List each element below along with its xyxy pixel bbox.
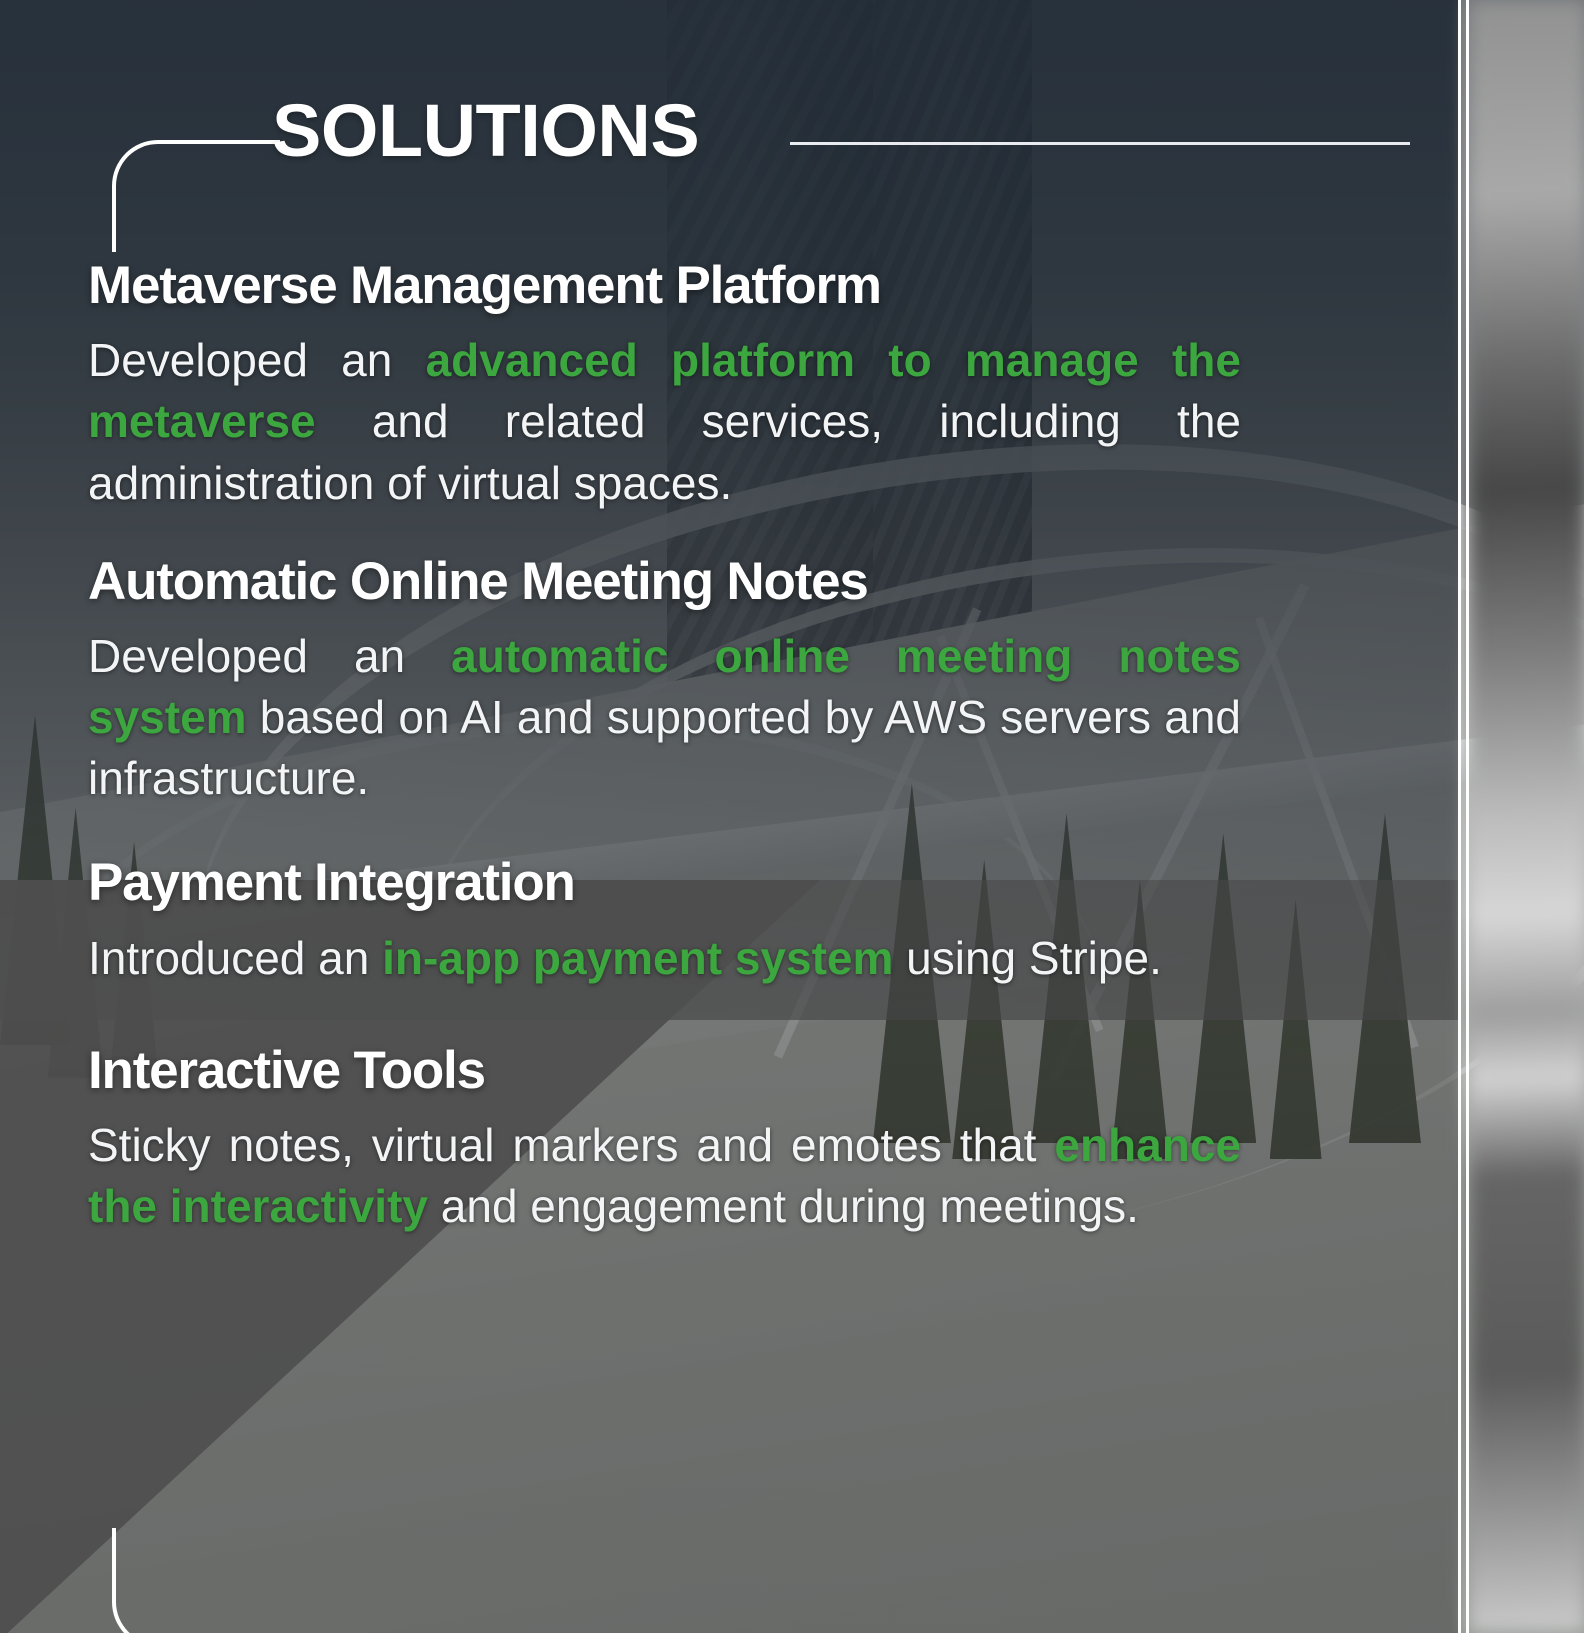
section-eyebrow-title: SOLUTIONS bbox=[272, 94, 699, 168]
solution-block: Payment Integration Introduced an in-app… bbox=[88, 855, 1241, 988]
solution-body: Introduced an in-app payment system usin… bbox=[88, 928, 1241, 989]
solution-block: Metaverse Management Platform Developed … bbox=[88, 258, 1241, 514]
body-text-run: based on AI and supported by AWS servers… bbox=[88, 691, 1241, 804]
solution-block: Automatic Online Meeting Notes Developed… bbox=[88, 554, 1241, 810]
body-text-run: and engagement during meetings. bbox=[428, 1180, 1139, 1232]
body-text-run: Introduced an bbox=[88, 932, 382, 984]
right-blurred-strip bbox=[1468, 0, 1587, 1633]
body-text-run: Developed an bbox=[88, 334, 426, 386]
body-text-run: Sticky notes, virtual markers and emotes… bbox=[88, 1119, 1054, 1171]
solution-title: Payment Integration bbox=[88, 855, 1241, 911]
solution-body: Developed an advanced platform to manage… bbox=[88, 330, 1241, 514]
solution-block: Interactive Tools Sticky notes, virtual … bbox=[88, 1043, 1241, 1238]
solutions-slide: SOLUTIONS Metaverse Management Platform … bbox=[0, 0, 1587, 1633]
solutions-list: Metaverse Management Platform Developed … bbox=[88, 258, 1241, 1237]
solution-title: Interactive Tools bbox=[88, 1043, 1241, 1099]
solution-title: Automatic Online Meeting Notes bbox=[88, 554, 1241, 610]
solution-body: Developed an automatic online meeting no… bbox=[88, 626, 1241, 810]
solution-body: Sticky notes, virtual markers and emotes… bbox=[88, 1115, 1241, 1237]
highlighted-phrase: in-app payment system bbox=[382, 932, 893, 984]
slide-content: SOLUTIONS Metaverse Management Platform … bbox=[0, 0, 1458, 1633]
body-text-run: using Stripe. bbox=[893, 932, 1161, 984]
solution-title: Metaverse Management Platform bbox=[88, 258, 1241, 314]
body-text-run: Developed an bbox=[88, 630, 451, 682]
